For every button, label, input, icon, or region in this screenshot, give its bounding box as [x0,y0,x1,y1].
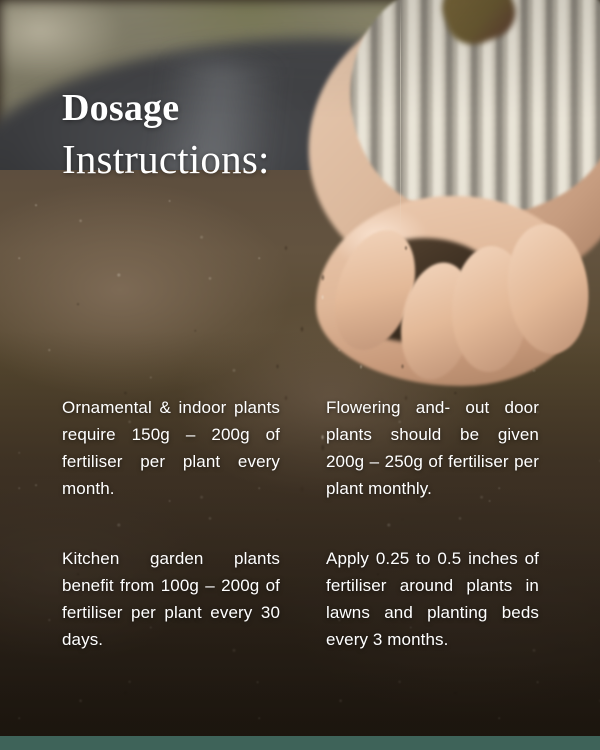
instruction-paragraph: Ornamental & indoor plants require 150g … [62,394,280,502]
instructions-column-left: Ornamental & indoor plants require 150g … [62,394,280,653]
instructions-columns: Ornamental & indoor plants require 150g … [62,394,544,653]
page-title: Dosage Instructions: [62,89,270,180]
bottom-accent-bar [0,736,600,750]
poster-content: Dosage Instructions: Ornamental & indoor… [0,0,600,750]
instruction-paragraph: Flowering and- out door plants should be… [326,394,539,502]
instruction-paragraph: Apply 0.25 to 0.5 inches of fertiliser a… [326,545,539,653]
poster-canvas: Dosage Instructions: Ornamental & indoor… [0,0,600,750]
instructions-column-right: Flowering and- out door plants should be… [326,394,544,653]
title-line-two: Instructions: [62,139,270,180]
instruction-paragraph: Kitchen garden plants benefit from 100g … [62,545,280,653]
title-line-one: Dosage [62,89,270,127]
